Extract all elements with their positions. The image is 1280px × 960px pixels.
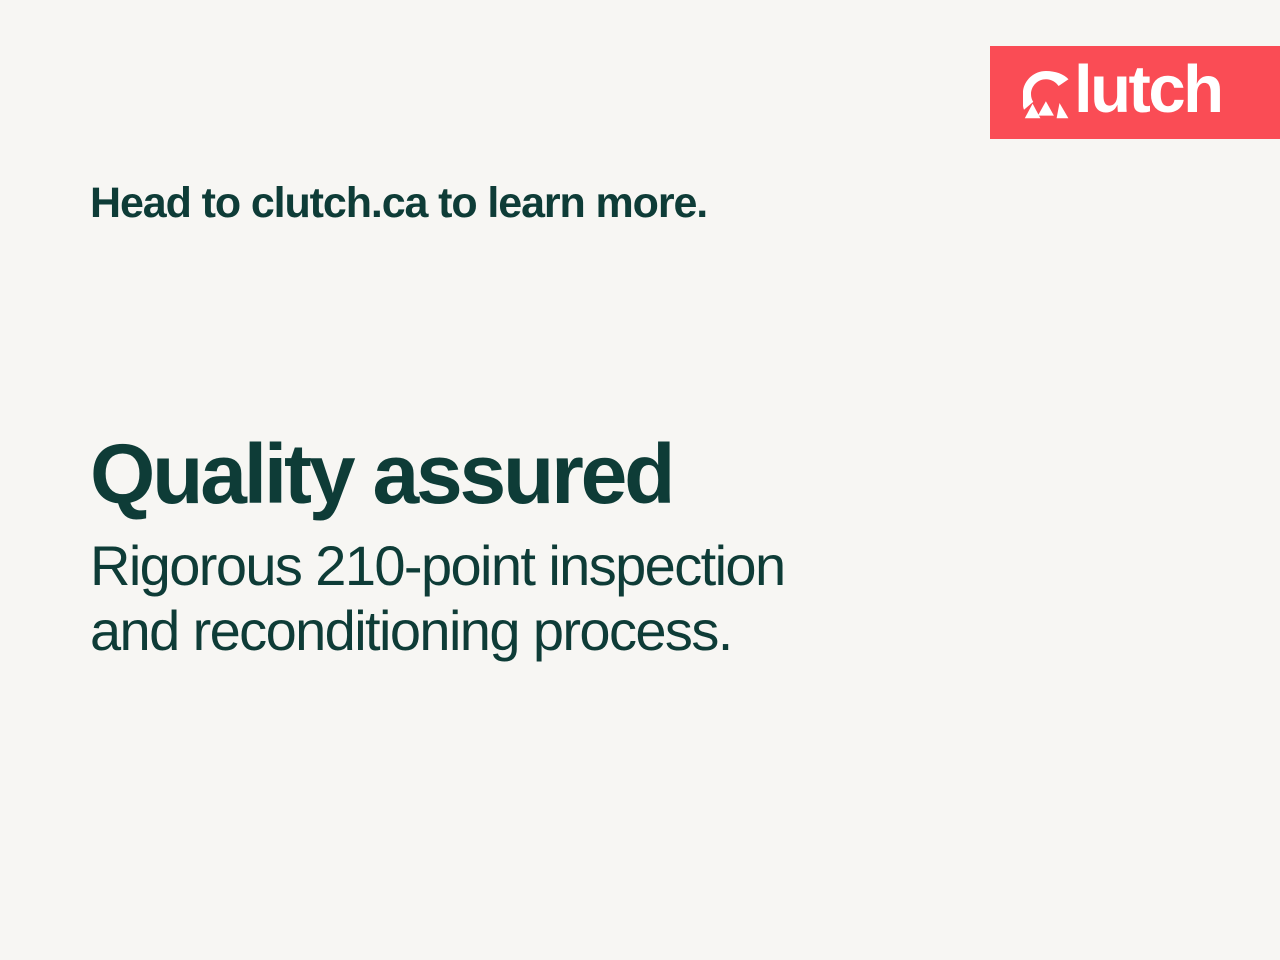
clutch-logo-block[interactable]: lutch xyxy=(990,46,1280,139)
lede-text: Head to clutch.ca to learn more. xyxy=(90,179,707,227)
headline-group: Quality assured Rigorous 210-point inspe… xyxy=(90,432,1090,664)
subcopy-line-1: Rigorous 210-point inspection xyxy=(90,534,1090,599)
clutch-wordmark: lutch xyxy=(1074,56,1222,123)
subcopy-line-2: and reconditioning process. xyxy=(90,599,1090,664)
clutch-c-icon xyxy=(1023,67,1069,119)
clutch-logo-lockup: lutch xyxy=(1023,59,1222,126)
page-title: Quality assured xyxy=(90,432,1090,516)
slide-canvas: lutch Head to clutch.ca to learn more. Q… xyxy=(0,0,1280,960)
subcopy: Rigorous 210-point inspection and recond… xyxy=(90,534,1090,664)
